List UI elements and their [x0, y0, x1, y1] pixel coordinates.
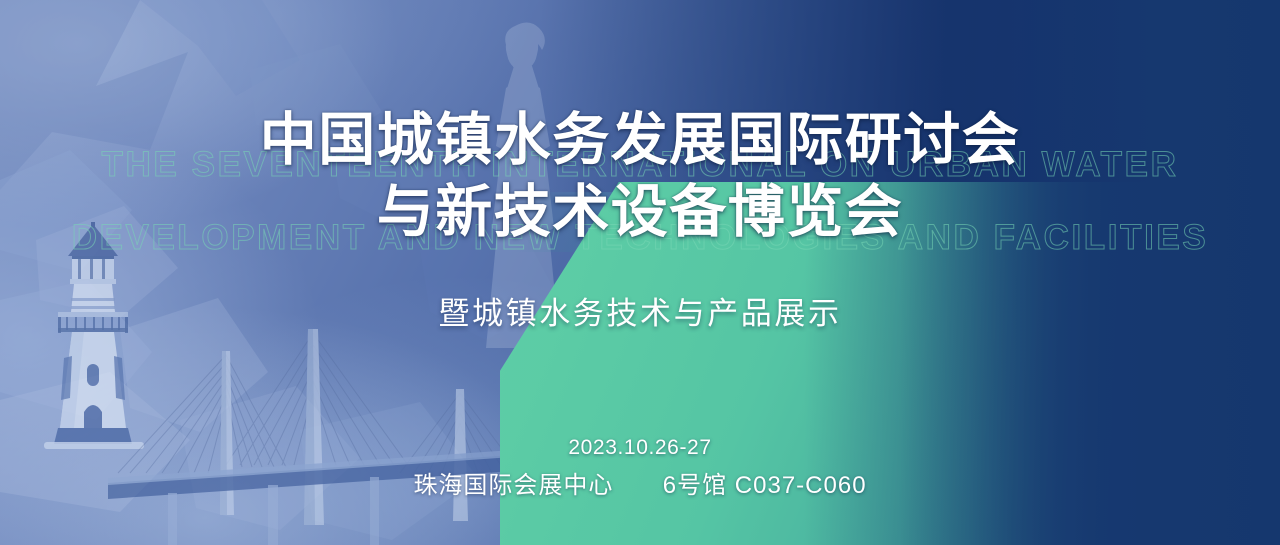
- venue-name: 珠海国际会展中心: [413, 472, 613, 499]
- event-banner: THE SEVENTEENTH INTERNATIONAL ON URBAN W…: [0, 0, 1280, 545]
- event-venue: 珠海国际会展中心 6号馆 C037-C060: [0, 470, 1280, 502]
- banner-subtitle: 暨城镇水务技术与产品展示: [0, 294, 1280, 334]
- navy-right-panel: [900, 0, 1280, 545]
- title-line-2: 与新技术设备博览会: [0, 176, 1280, 248]
- event-date: 2023.10.26-27: [0, 434, 1280, 462]
- title-line-1: 中国城镇水务发展国际研讨会: [0, 104, 1280, 176]
- venue-booth: 6号馆 C037-C060: [663, 472, 867, 499]
- banner-title: 中国城镇水务发展国际研讨会 与新技术设备博览会: [0, 104, 1280, 248]
